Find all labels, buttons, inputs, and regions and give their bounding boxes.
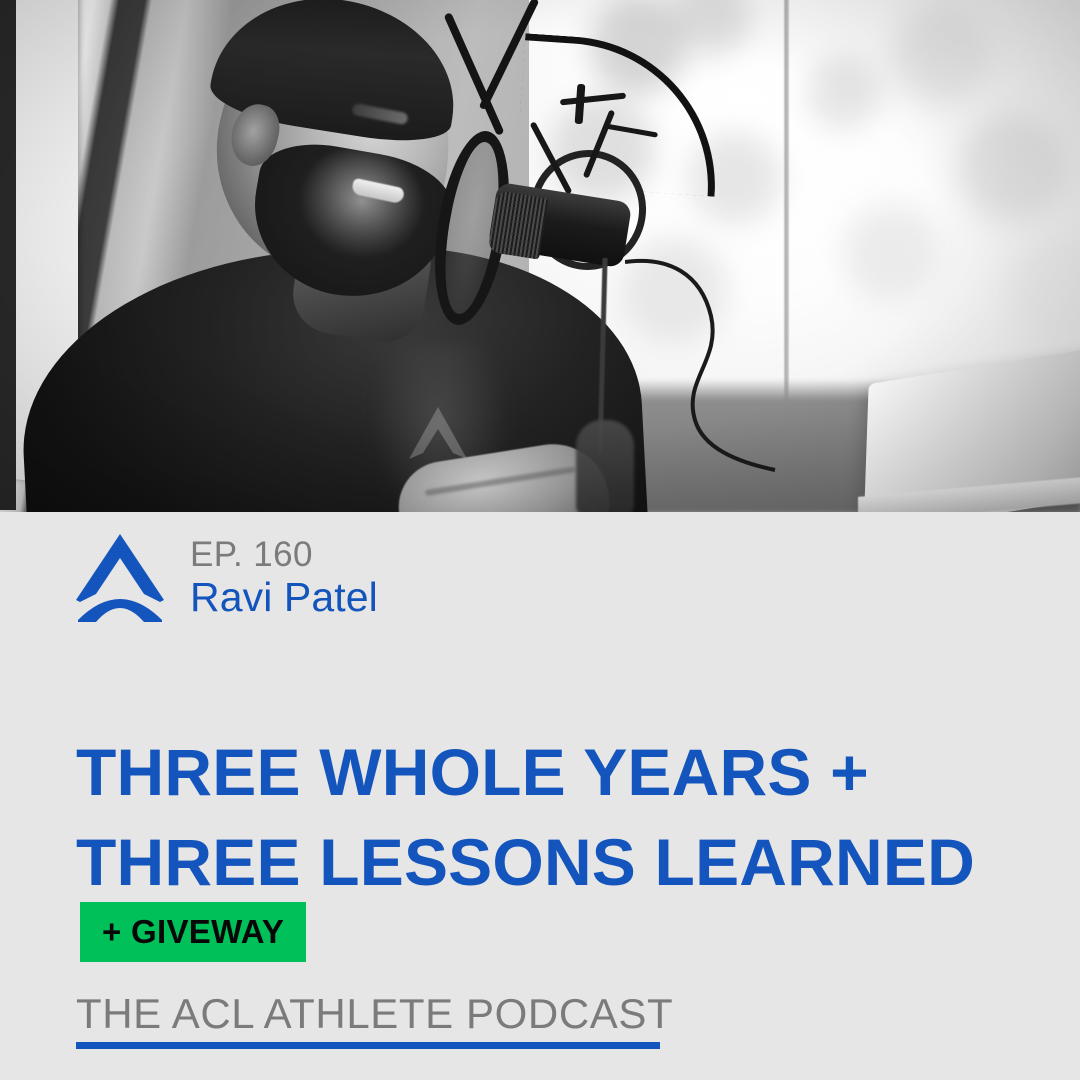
info-panel: EP. 160 Ravi Patel THREE WHOLE YEARS + T… (0, 512, 1080, 1080)
episode-number: EP. 160 (190, 536, 378, 573)
show-name-block: THE ACL ATHLETE PODCAST (76, 990, 673, 1049)
host-photo (0, 0, 1080, 512)
episode-header: EP. 160 Ravi Patel (72, 530, 378, 626)
giveaway-badge: + GIVEWAY (80, 902, 306, 962)
giveaway-badge-label: + GIVEWAY (102, 913, 284, 950)
episode-title-line-2: THREE LESSONS LEARNED (76, 818, 1036, 908)
episode-meta: EP. 160 Ravi Patel (190, 530, 378, 621)
episode-title: THREE WHOLE YEARS + THREE LESSONS LEARNE… (76, 728, 1036, 908)
door-jamb (0, 0, 16, 510)
episode-title-line-1: THREE WHOLE YEARS + (76, 728, 1036, 818)
microphone-grille (487, 190, 548, 259)
xlr-cable (625, 248, 875, 478)
acl-athlete-logo-icon (72, 530, 168, 626)
guest-name: Ravi Patel (190, 573, 378, 621)
show-name: THE ACL ATHLETE PODCAST (76, 990, 673, 1037)
podcast-episode-cover: EP. 160 Ravi Patel THREE WHOLE YEARS + T… (0, 0, 1080, 1080)
show-name-underline (76, 1042, 660, 1049)
